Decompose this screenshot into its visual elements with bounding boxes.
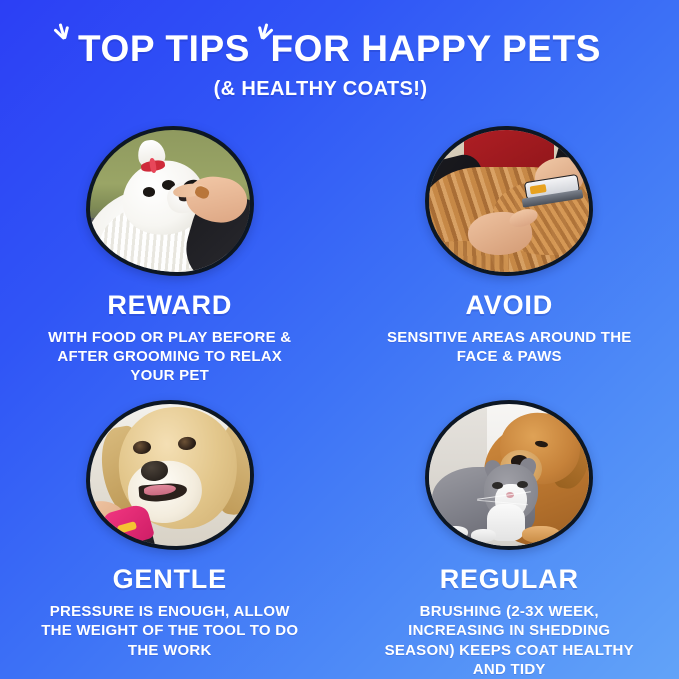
tip-description-gentle: PRESSURE IS ENOUGH, ALLOW THE WEIGHT OF …	[40, 602, 300, 660]
tip-card-gentle: GENTLE PRESSURE IS ENOUGH, ALLOW THE WEI…	[0, 392, 340, 679]
tip-photo-gentle	[86, 400, 254, 550]
title-part-one: TOP TIPS	[78, 30, 250, 67]
tip-photo-regular	[425, 400, 593, 550]
tip-title-avoid: AVOID	[465, 292, 553, 319]
page-title: TOP TIPS FOR HAPPY PETS	[0, 30, 679, 67]
photo-scene-maltese-treat	[90, 130, 250, 272]
sparkle-burst-left-icon	[50, 13, 80, 39]
title-part-two: FOR HAPPY PETS	[270, 30, 601, 67]
tip-title-reward: REWARD	[107, 292, 232, 319]
tip-photo-avoid	[425, 126, 593, 276]
photo-scene-golden-pink-tool	[90, 404, 250, 546]
tip-card-reward: REWARD WITH FOOD OR PLAY BEFORE & AFTER …	[0, 118, 340, 392]
tip-card-regular: REGULAR BRUSHING (2-3X WEEK, INCREASING …	[340, 392, 679, 679]
photo-scene-doodle-grooming	[429, 130, 589, 272]
tip-photo-reward	[86, 126, 254, 276]
tips-grid: REWARD WITH FOOD OR PLAY BEFORE & AFTER …	[0, 118, 679, 679]
tip-card-avoid: AVOID SENSITIVE AREAS AROUND THE FACE & …	[340, 118, 679, 392]
title-highlight-group: TOP TIPS	[78, 30, 250, 67]
tip-description-reward: WITH FOOD OR PLAY BEFORE & AFTER GROOMIN…	[40, 328, 300, 386]
page-subtitle-text: (& HEALTHY COATS!)	[214, 78, 428, 100]
infographic-header: TOP TIPS FOR HAPPY PETS (& HEALTHY COATS…	[0, 0, 679, 118]
page-subtitle: (& HEALTHY COATS!)	[0, 78, 679, 101]
tip-title-regular: REGULAR	[440, 566, 579, 593]
tip-description-avoid: SENSITIVE AREAS AROUND THE FACE & PAWS	[379, 328, 639, 366]
tip-title-gentle: GENTLE	[113, 566, 227, 593]
tip-description-regular: BRUSHING (2-3X WEEK, INCREASING IN SHEDD…	[379, 602, 639, 679]
photo-scene-dog-cat-cuddle	[429, 404, 589, 546]
